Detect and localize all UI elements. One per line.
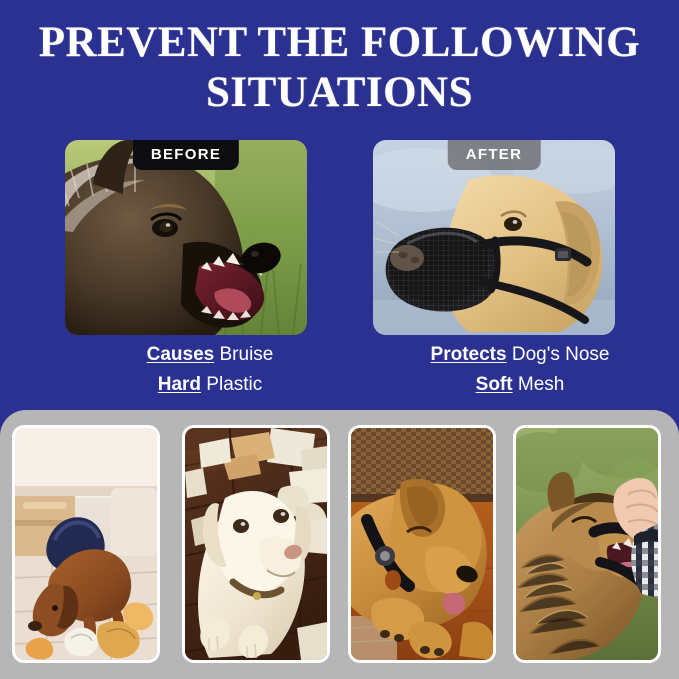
before-badge: BEFORE [133,140,239,170]
after-badge: AFTER [448,140,541,170]
gallery-image-4 [516,428,658,660]
gallery-card-1 [12,425,160,663]
before-photo-card: BEFORE [65,140,307,335]
gallery-panel [0,410,679,679]
gallery-image-3 [351,428,493,660]
after-caption-2: Soft Mesh [370,370,670,400]
before-captions: Causes Bruise Hard Plastic [60,340,360,400]
before-caption-2: Hard Plastic [60,370,360,400]
gallery-image-1 [15,428,157,660]
after-caption-1-rest: Dog's Nose [507,344,610,365]
after-caption-2-rest: Mesh [513,374,565,395]
after-caption-2-bold: Soft [476,374,513,395]
gallery-card-4 [513,425,661,663]
after-caption-1: Protects Dog's Nose [370,340,670,370]
page-title-line-1: PREVENT THE FOLLOWING [0,18,679,68]
gallery-image-2 [185,428,327,660]
infographic-page: PREVENT THE FOLLOWING SITUATIONS [0,0,679,679]
after-photo-card: AFTER [373,140,615,335]
after-caption-1-bold: Protects [431,344,507,365]
page-title-line-2: SITUATIONS [0,68,679,118]
before-caption-2-bold: Hard [158,374,201,395]
gallery-card-2 [182,425,330,663]
before-caption-1-rest: Bruise [214,344,273,365]
gallery-card-3 [348,425,496,663]
before-caption-1-bold: Causes [147,344,215,365]
after-captions: Protects Dog's Nose Soft Mesh [370,340,670,400]
before-caption-2-rest: Plastic [201,374,262,395]
before-caption-1: Causes Bruise [60,340,360,370]
page-title: PREVENT THE FOLLOWING SITUATIONS [0,18,679,118]
